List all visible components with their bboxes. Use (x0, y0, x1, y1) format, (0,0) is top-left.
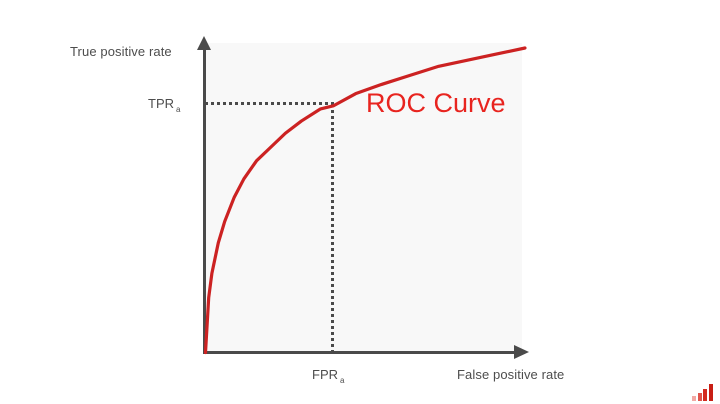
x-axis-arrow-icon (514, 345, 529, 359)
chart-canvas: True positive rate False positive rate T… (0, 0, 720, 404)
logo-bar-3 (703, 389, 707, 401)
tpr-text: TPR (148, 96, 174, 111)
fpr-subscript: a (340, 376, 344, 385)
y-axis-tick-label-tpr: TPRa (148, 96, 180, 114)
vertical-guide-line (331, 104, 334, 353)
x-axis-tick-label-fpr: FPRa (312, 367, 344, 385)
roc-curve-annotation-label: ROC Curve (366, 88, 506, 119)
tpr-subscript: a (176, 105, 180, 114)
x-axis-line (203, 351, 516, 354)
bar-chart-logo-icon (692, 383, 716, 401)
y-axis-title: True positive rate (70, 44, 172, 59)
y-axis-line (203, 48, 206, 354)
logo-bar-4 (709, 384, 713, 401)
horizontal-guide-line (205, 102, 334, 105)
x-axis-title: False positive rate (457, 367, 564, 382)
logo-bar-1 (692, 396, 696, 401)
y-axis-arrow-icon (197, 36, 211, 50)
fpr-text: FPR (312, 367, 338, 382)
logo-bar-2 (698, 393, 702, 401)
